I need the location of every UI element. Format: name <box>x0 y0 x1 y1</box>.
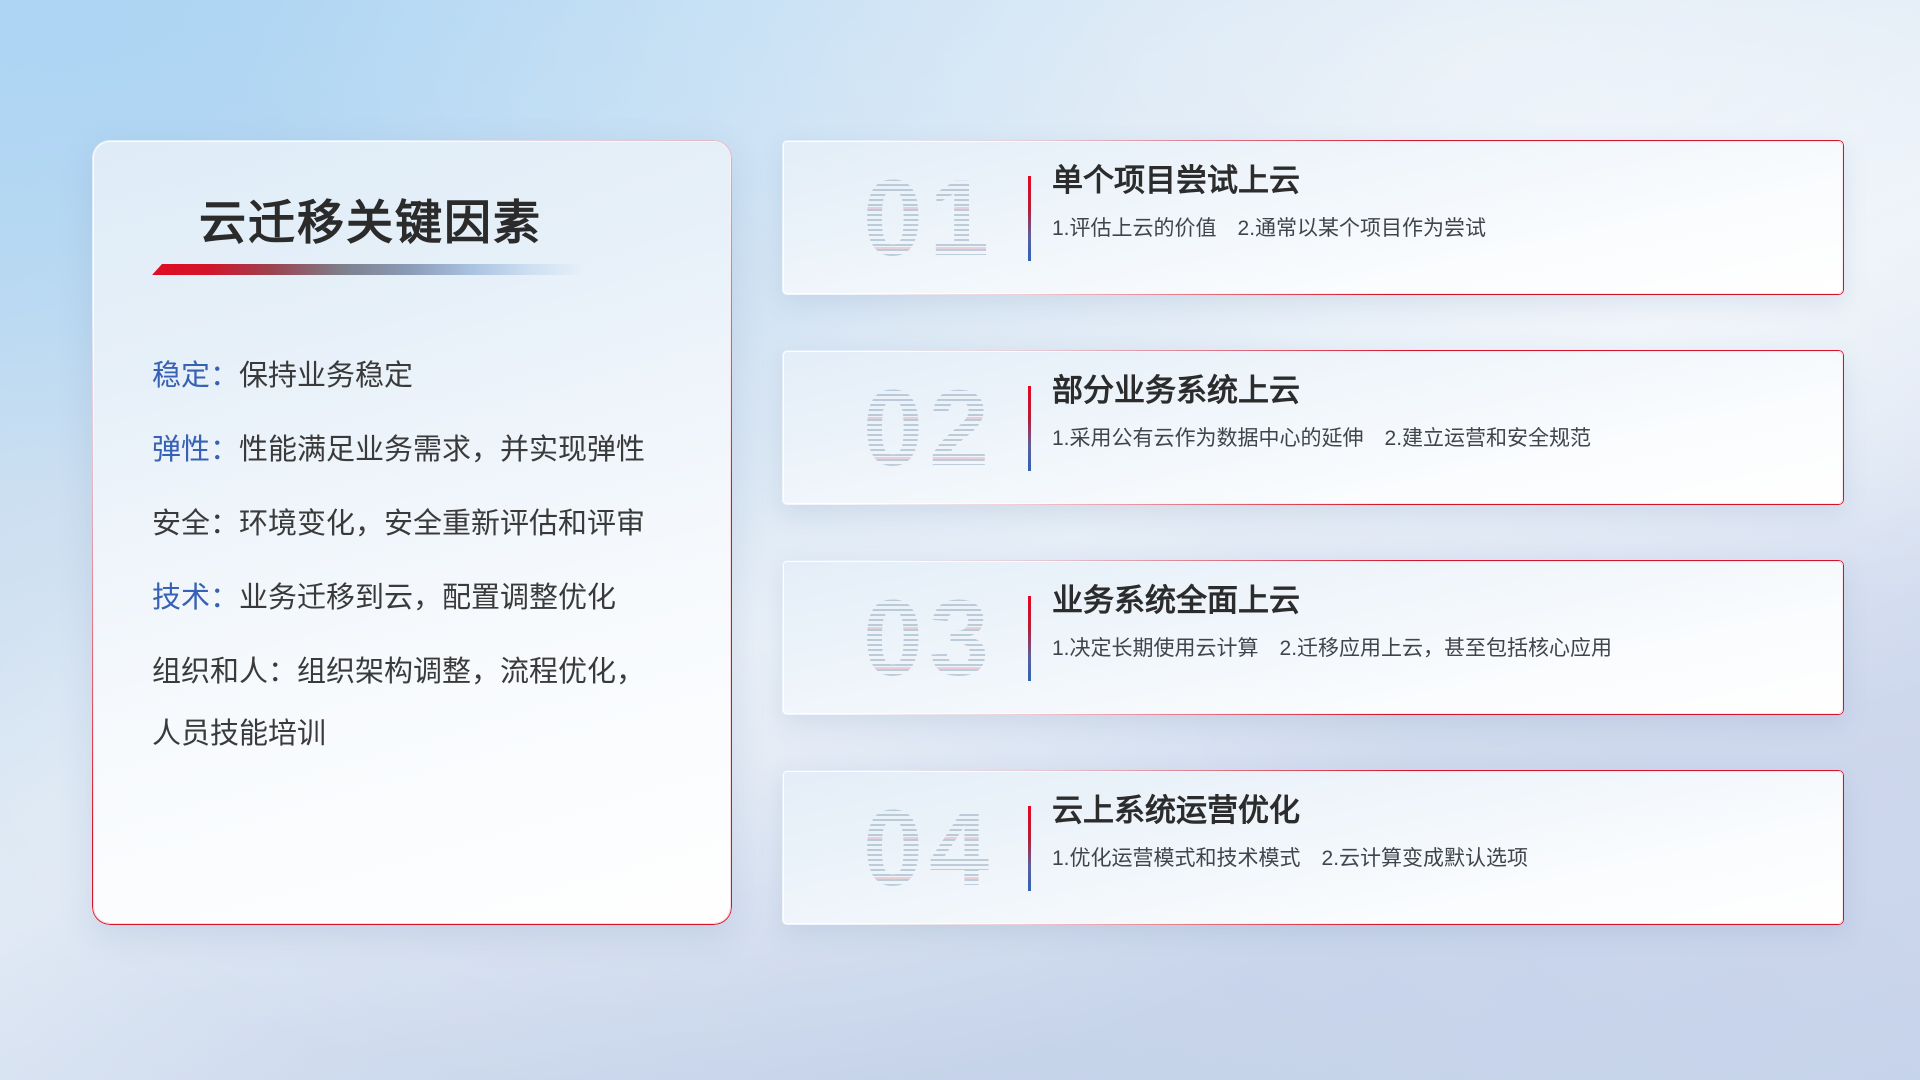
card-step-number-tint: 01 <box>804 154 1054 282</box>
factor-row: 组织和人：组织架构调整，流程优化， <box>152 658 692 687</box>
factor-text: 性能满足业务需求，并实现弹性 <box>239 434 645 466</box>
factor-text: 组织架构调整，流程优化， <box>297 656 645 688</box>
stage-card[interactable]: 0101单个项目尝试上云1.评估上云的价值 2.通常以某个项目作为尝试 <box>782 140 1844 295</box>
page-title: 云迁移关键因素 <box>199 184 542 253</box>
stage-card[interactable]: 0202部分业务系统上云1.采用公有云作为数据中心的延伸 2.建立运营和安全规范 <box>782 350 1844 505</box>
card-step-number: 01 <box>804 154 1054 282</box>
card-body: 部分业务系统上云1.采用公有云作为数据中心的延伸 2.建立运营和安全规范 <box>1052 372 1820 452</box>
card-accent-bar <box>1028 176 1031 261</box>
factor-label: 组织和人： <box>152 656 297 688</box>
factor-label: 稳定： <box>152 360 239 392</box>
factor-row: 安全：环境变化，安全重新评估和评审 <box>152 510 692 539</box>
card-title: 业务系统全面上云 <box>1052 582 1820 621</box>
factor-row: 稳定：保持业务稳定 <box>152 362 692 391</box>
factor-row: 弹性：性能满足业务需求，并实现弹性 <box>152 436 692 465</box>
factor-row: 人员技能培训 <box>152 720 692 749</box>
card-body: 云上系统运营优化1.优化运营模式和技术模式 2.云计算变成默认选项 <box>1052 792 1820 872</box>
stage-card[interactable]: 0404云上系统运营优化1.优化运营模式和技术模式 2.云计算变成默认选项 <box>782 770 1844 925</box>
card-description: 1.评估上云的价值 2.通常以某个项目作为尝试 <box>1052 215 1820 242</box>
slide-canvas: 云迁移关键因素 稳定：保持业务稳定弹性：性能满足业务需求，并实现弹性安全：环境变… <box>0 0 1920 1080</box>
card-step-number-tint: 04 <box>804 784 1054 912</box>
stage-card[interactable]: 0303业务系统全面上云1.决定长期使用云计算 2.迁移应用上云，甚至包括核心应… <box>782 560 1844 715</box>
factor-text: 环境变化，安全重新评估和评审 <box>239 508 645 540</box>
card-description: 1.采用公有云作为数据中心的延伸 2.建立运营和安全规范 <box>1052 425 1820 452</box>
factor-label: 弹性： <box>152 434 239 466</box>
card-step-number-tint: 03 <box>804 574 1054 702</box>
card-accent-bar <box>1028 806 1031 891</box>
factor-list: 稳定：保持业务稳定弹性：性能满足业务需求，并实现弹性安全：环境变化，安全重新评估… <box>152 362 692 749</box>
card-accent-bar <box>1028 386 1031 471</box>
card-title: 部分业务系统上云 <box>1052 372 1820 411</box>
card-title: 云上系统运营优化 <box>1052 792 1820 831</box>
factor-label: 安全： <box>152 508 239 540</box>
key-factors-panel: 云迁移关键因素 稳定：保持业务稳定弹性：性能满足业务需求，并实现弹性安全：环境变… <box>92 140 732 925</box>
card-step-number: 04 <box>804 784 1054 912</box>
card-step-number: 02 <box>804 364 1054 492</box>
card-body: 单个项目尝试上云1.评估上云的价值 2.通常以某个项目作为尝试 <box>1052 162 1820 242</box>
card-title: 单个项目尝试上云 <box>1052 162 1820 201</box>
factor-text: 业务迁移到云，配置调整优化 <box>239 582 616 614</box>
title-underline-rule <box>152 264 584 275</box>
card-description: 1.决定长期使用云计算 2.迁移应用上云，甚至包括核心应用 <box>1052 635 1820 662</box>
card-description: 1.优化运营模式和技术模式 2.云计算变成默认选项 <box>1052 845 1820 872</box>
card-accent-bar <box>1028 596 1031 681</box>
factor-label: 技术： <box>152 582 239 614</box>
factor-text: 保持业务稳定 <box>239 360 413 392</box>
card-step-number-tint: 02 <box>804 364 1054 492</box>
factor-text: 人员技能培训 <box>152 718 326 750</box>
card-body: 业务系统全面上云1.决定长期使用云计算 2.迁移应用上云，甚至包括核心应用 <box>1052 582 1820 662</box>
factor-row: 技术：业务迁移到云，配置调整优化 <box>152 584 692 613</box>
card-step-number: 03 <box>804 574 1054 702</box>
